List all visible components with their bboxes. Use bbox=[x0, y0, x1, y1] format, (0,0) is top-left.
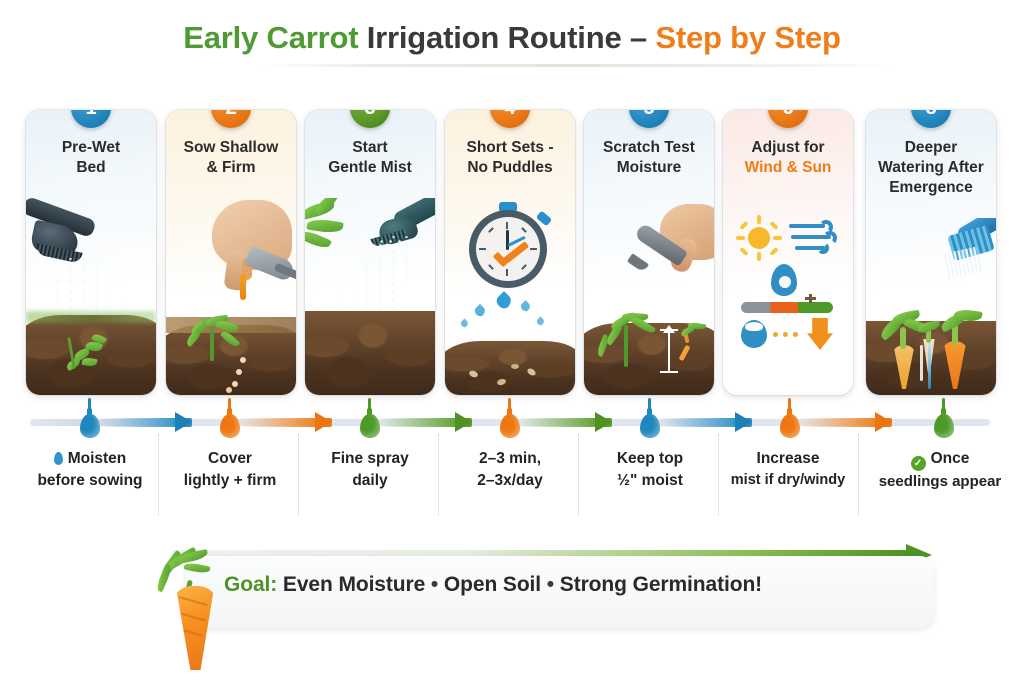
step-caption-6-line2: mist if dry/windy bbox=[714, 470, 862, 491]
step-caption-3-line1: Fine spray bbox=[296, 448, 444, 470]
goal-text: Goal: Even Moisture • Open Soil • Strong… bbox=[224, 573, 924, 597]
step-title-8-line1: Deeper bbox=[905, 139, 958, 156]
step-title-4-line2: No Puddles bbox=[467, 159, 552, 176]
step-title-8-line2: Watering After bbox=[878, 159, 984, 176]
step-card-4[interactable]: 4 Short Sets - No Puddles bbox=[445, 110, 575, 395]
step-badge-2: 2 bbox=[211, 110, 251, 128]
step-badge-1: 1 bbox=[71, 110, 111, 128]
step-title-5-line2: Moisture bbox=[617, 159, 682, 176]
step-title-2-line1: Sow Shallow bbox=[184, 139, 279, 156]
step-caption-8: ✓Once seedlings appear bbox=[862, 448, 1018, 493]
title-underline-rule bbox=[258, 64, 898, 67]
connector-arrow-3 bbox=[380, 412, 472, 433]
step-caption-8-line2: seedlings appear bbox=[862, 471, 1018, 493]
step-title-6: Adjust for Wind & Sun bbox=[727, 138, 849, 178]
step-caption-5: Keep top ½" moist bbox=[576, 448, 724, 493]
step-title-6-line1: Adjust for bbox=[751, 139, 824, 156]
step-caption-6: Increase mist if dry/windy bbox=[714, 448, 862, 491]
connector-strip: Moisten before sowing Cover lightly + fi… bbox=[0, 400, 1024, 530]
step-art-1-watering-can-icon bbox=[26, 198, 156, 395]
step-title-2: Sow Shallow & Firm bbox=[170, 138, 292, 178]
connector-arrow-4 bbox=[520, 412, 612, 433]
step-badge-6: 6 bbox=[768, 110, 808, 128]
step-card-8[interactable]: 8 Deeper Watering After Emergence bbox=[866, 110, 996, 395]
step-title-5-line1: Scratch Test bbox=[603, 139, 695, 156]
step-caption-4-line1: 2–3 min, bbox=[436, 448, 584, 470]
step-caption-1-line1: Moisten bbox=[68, 450, 127, 467]
step-art-3-hose-nozzle-icon bbox=[305, 198, 435, 395]
step-badge-8: 8 bbox=[911, 110, 951, 128]
step-card-1[interactable]: 1 Pre-Wet Bed bbox=[26, 110, 156, 395]
page-title: Early Carrot Irrigation Routine – Step b… bbox=[0, 20, 1024, 56]
goal-banner: Goal: Even Moisture • Open Soil • Strong… bbox=[0, 540, 1024, 650]
step-card-5[interactable]: 5 Scratch Test Moisture bbox=[584, 110, 714, 395]
step-card-2[interactable]: 2 Sow Shallow & Firm bbox=[166, 110, 296, 395]
step-caption-6-line1: Increase bbox=[714, 448, 862, 470]
step-caption-1-line2: before sowing bbox=[16, 470, 164, 492]
step-title-8-line3: Emergence bbox=[889, 179, 973, 196]
step-title-6-line2: Wind & Sun bbox=[745, 159, 832, 176]
moisture-gauge-bar bbox=[741, 302, 833, 313]
step-caption-3-line2: daily bbox=[296, 470, 444, 492]
step-title-8: Deeper Watering After Emergence bbox=[870, 138, 992, 197]
step-caption-5-line2: ½" moist bbox=[576, 470, 724, 492]
step-title-2-line2: & Firm bbox=[206, 159, 255, 176]
step-title-4: Short Sets - No Puddles bbox=[449, 138, 571, 178]
step-caption-2-line1: Cover bbox=[156, 448, 304, 470]
title-part-green: Early Carrot bbox=[183, 20, 358, 55]
connector-arrow-5 bbox=[660, 412, 752, 433]
sun-icon bbox=[737, 216, 781, 260]
decrease-arrow-icon bbox=[807, 318, 833, 350]
step-caption-4-line2: 2–3x/day bbox=[436, 470, 584, 492]
step-caption-3: Fine spray daily bbox=[296, 448, 444, 493]
step-caption-2: Cover lightly + firm bbox=[156, 448, 304, 493]
step-title-1-line2: Bed bbox=[76, 159, 105, 176]
step-title-1: Pre-Wet Bed bbox=[30, 138, 152, 178]
goal-item-2: Open Soil bbox=[444, 573, 541, 596]
step-card-row: 1 Pre-Wet Bed 2 bbox=[0, 110, 1024, 400]
goal-label: Goal: bbox=[224, 573, 277, 596]
step-title-3: Start Gentle Mist bbox=[309, 138, 431, 178]
title-part-orange: Step by Step bbox=[655, 20, 840, 55]
step-title-3-line1: Start bbox=[352, 139, 387, 156]
step-card-3[interactable]: 3 Start Gentle Mist bbox=[305, 110, 435, 395]
step-caption-2-line2: lightly + firm bbox=[156, 470, 304, 492]
title-part-dark: Irrigation Routine – bbox=[358, 20, 655, 55]
goal-separator-1: • bbox=[431, 573, 438, 596]
step-art-6-weather-icons bbox=[723, 198, 853, 395]
check-circle-icon: ✓ bbox=[911, 456, 926, 471]
step-art-2-hand-sowing-icon bbox=[166, 198, 296, 395]
step-badge-5: 5 bbox=[629, 110, 669, 128]
connector-arrow-6 bbox=[800, 412, 892, 433]
water-drop-icon bbox=[54, 452, 63, 465]
goal-item-1: Even Moisture bbox=[283, 573, 425, 596]
step-badge-3: 3 bbox=[350, 110, 390, 128]
step-title-5: Scratch Test Moisture bbox=[588, 138, 710, 178]
step-art-8-carrots-watering-icon bbox=[866, 218, 996, 395]
step-title-3-line2: Gentle Mist bbox=[328, 159, 412, 176]
step-badge-4: 4 bbox=[490, 110, 530, 128]
step-caption-4: 2–3 min, 2–3x/day bbox=[436, 448, 584, 493]
step-art-4-stopwatch-icon bbox=[445, 198, 575, 395]
goal-item-3: Strong Germination! bbox=[560, 573, 762, 596]
wind-icon bbox=[789, 220, 839, 256]
step-caption-8-line1: Once bbox=[931, 450, 970, 467]
step-art-5-scratch-test-icon bbox=[584, 198, 714, 395]
step-title-1-line1: Pre-Wet bbox=[62, 139, 120, 156]
step-caption-5-line1: Keep top bbox=[576, 448, 724, 470]
step-caption-1: Moisten before sowing bbox=[16, 448, 164, 493]
connector-arrow-2 bbox=[240, 412, 332, 433]
step-card-6[interactable]: 6 Adjust for Wind & Sun bbox=[723, 110, 853, 395]
goal-separator-2: • bbox=[547, 573, 554, 596]
step-title-4-line1: Short Sets - bbox=[467, 139, 554, 156]
connector-arrow-1 bbox=[100, 412, 192, 433]
infographic-page: Early Carrot Irrigation Routine – Step b… bbox=[0, 0, 1024, 683]
